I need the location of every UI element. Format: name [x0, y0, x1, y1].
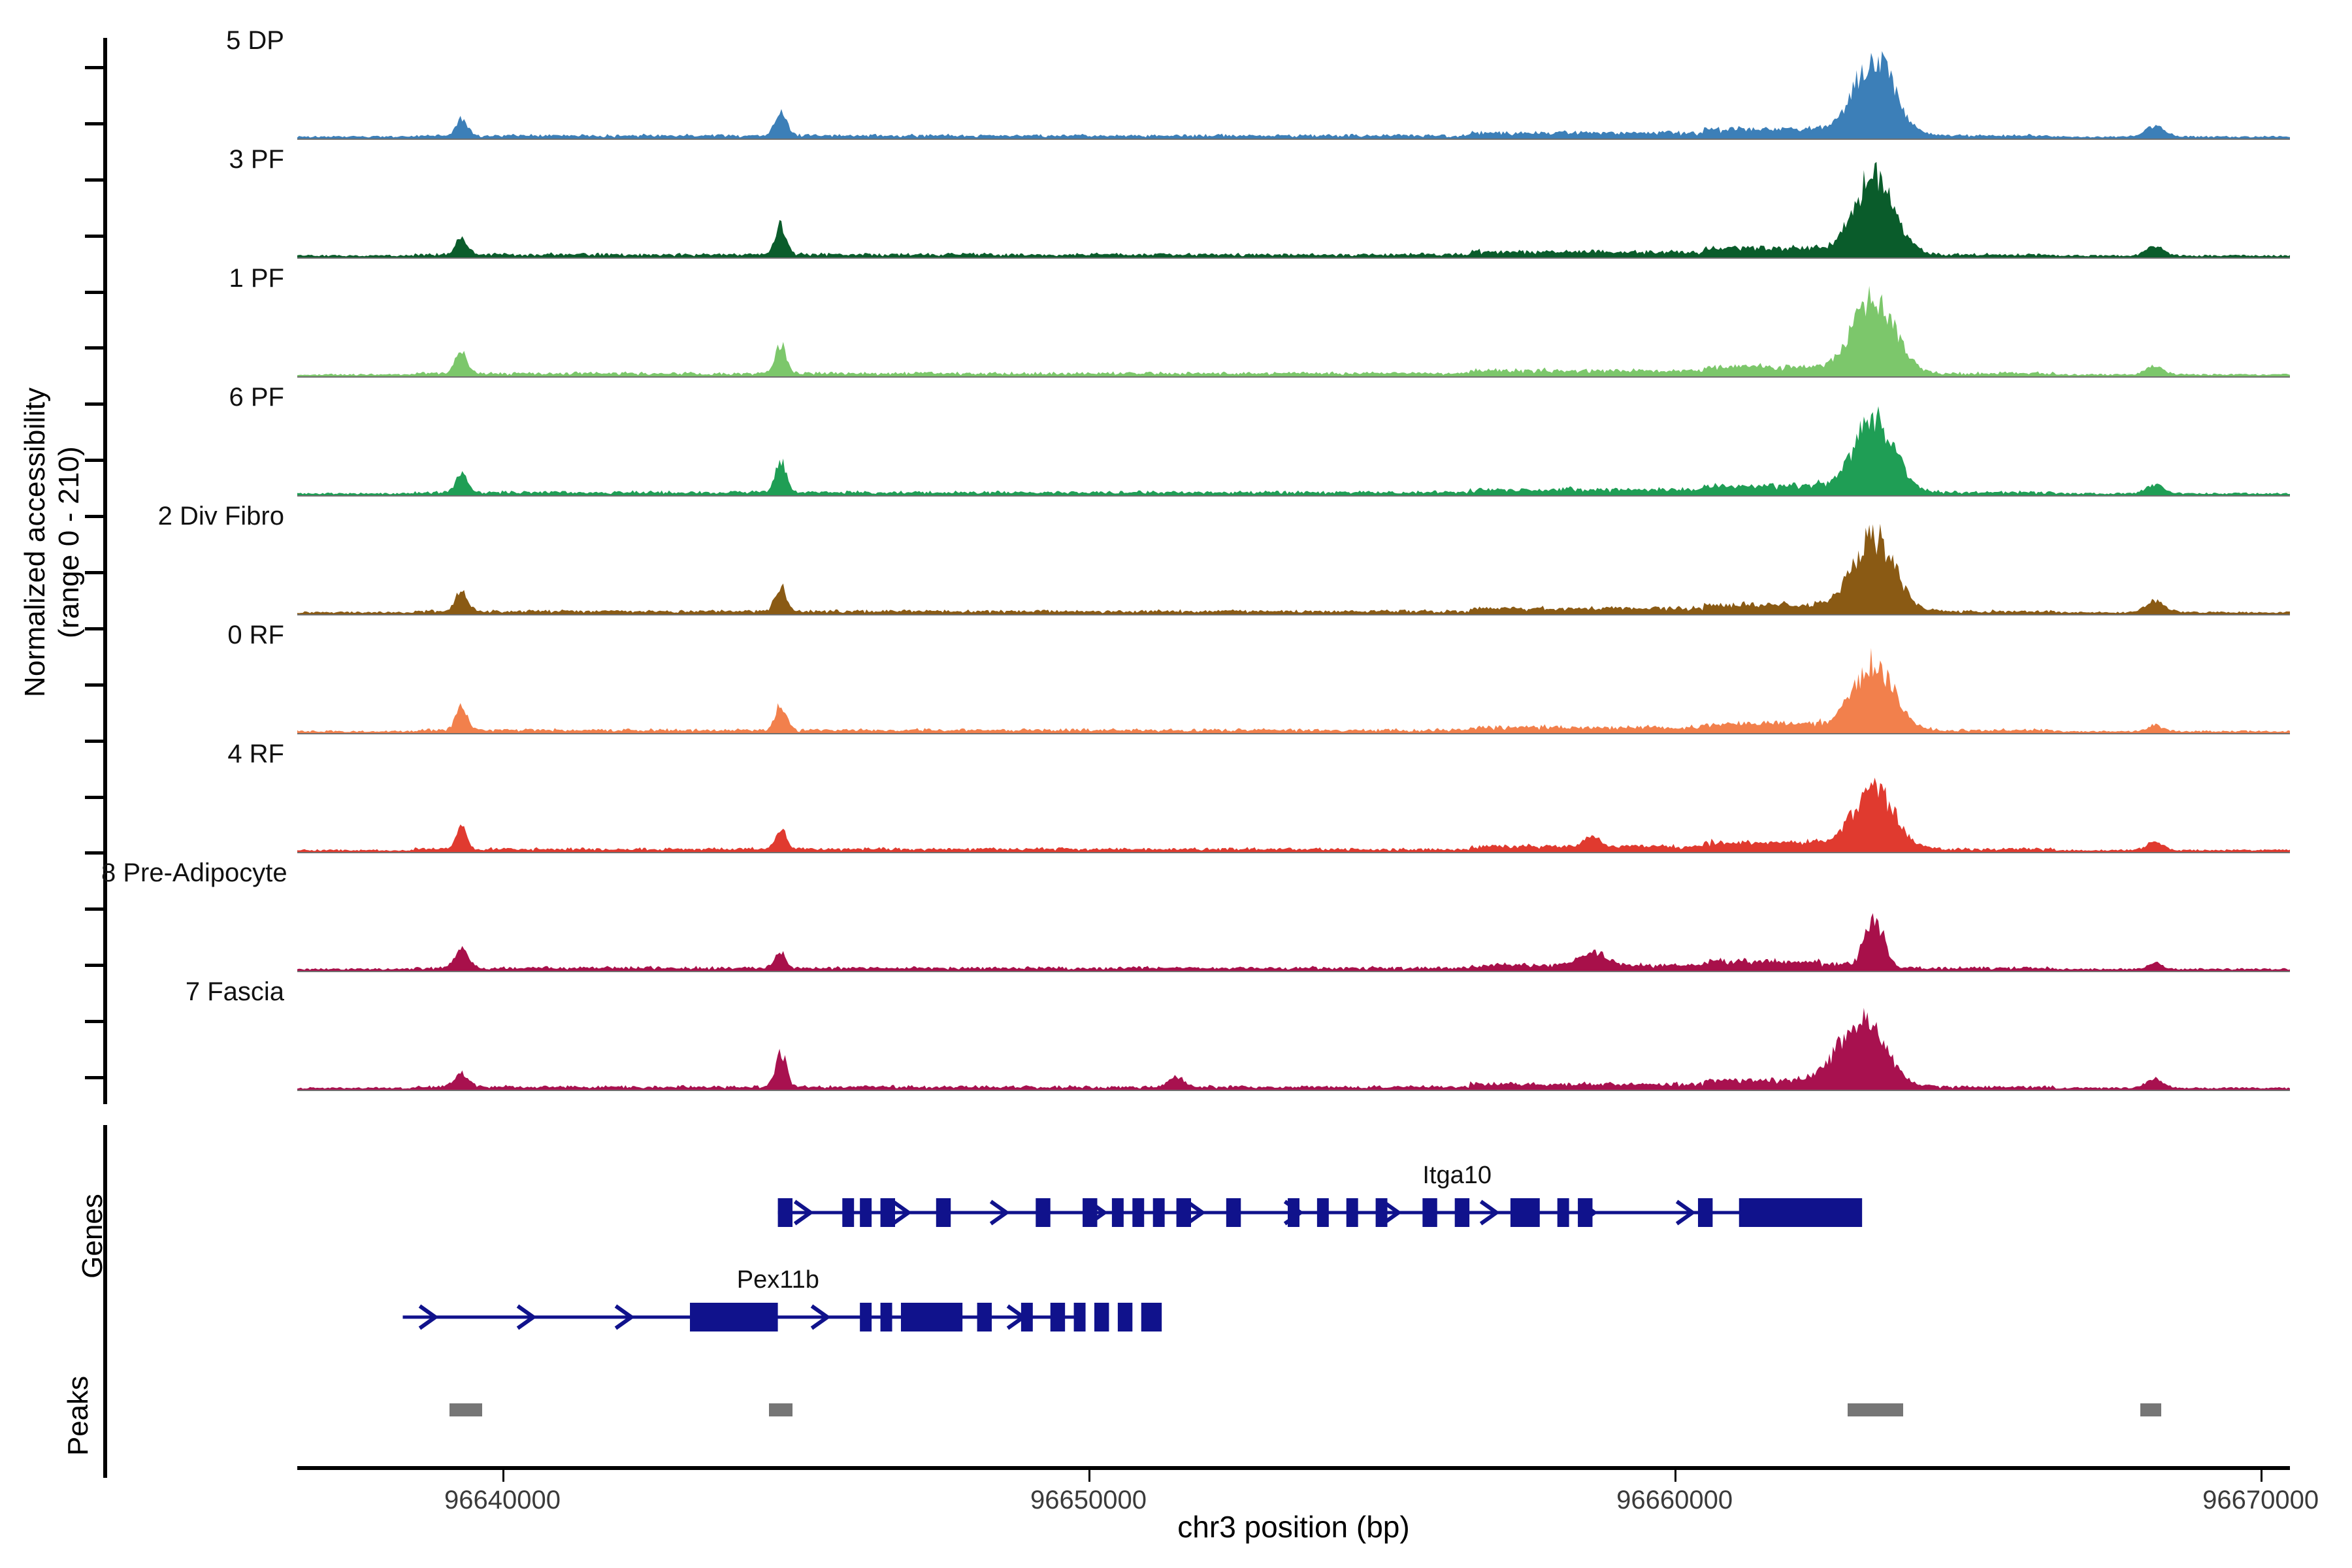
coverage-y-axis	[103, 38, 107, 1104]
track-baseline	[297, 614, 2290, 615]
x-axis-tick	[1674, 1470, 1676, 1482]
coverage-track: 5 DP	[297, 30, 2290, 140]
track-baseline	[297, 495, 2290, 497]
coverage-track: 6 PF	[297, 387, 2290, 497]
gene-exon-structure	[297, 1186, 2290, 1233]
y-axis-tick	[85, 235, 103, 238]
coverage-track: 4 RF	[297, 743, 2290, 853]
coverage-signal	[297, 635, 2290, 733]
y-axis-tick	[85, 291, 103, 294]
x-axis-tick	[1088, 1470, 1090, 1482]
peak-region[interactable]	[449, 1403, 482, 1416]
y-axis-tick	[85, 907, 103, 911]
track-baseline	[297, 139, 2290, 140]
coverage-track: 0 RF	[297, 625, 2290, 734]
gene-exon-structure	[297, 1291, 2290, 1338]
gene-name-label: Pex11b	[737, 1266, 819, 1294]
coverage-track: 2 Div Fibro	[297, 506, 2290, 615]
y-axis-tick	[85, 571, 103, 574]
track-label: 3 PF	[101, 145, 284, 174]
peak-region[interactable]	[1848, 1403, 1903, 1416]
gene-model[interactable]: Itga10	[297, 1164, 2290, 1236]
genome-browser-figure: Normalized accessibility (range 0 - 210)…	[0, 0, 2352, 1568]
coverage-signal	[297, 873, 2290, 971]
y-axis-tick	[85, 402, 103, 406]
y-axis-tick	[85, 346, 103, 350]
peak-region[interactable]	[2140, 1403, 2161, 1416]
gene-name-label: Itga10	[1422, 1162, 1492, 1190]
track-baseline	[297, 376, 2290, 378]
coverage-signal	[297, 278, 2290, 376]
y-axis-tick	[85, 459, 103, 462]
y-axis-title: Normalized accessibility (range 0 - 210)	[26, 7, 78, 1078]
coverage-signal	[297, 992, 2290, 1090]
track-label: 7 Fascia	[101, 977, 284, 1007]
y-axis-tick	[85, 796, 103, 799]
coverage-track: 8 Pre-Adipocyte	[297, 862, 2290, 972]
y-axis-tick	[85, 1076, 103, 1079]
track-baseline	[297, 257, 2290, 259]
x-axis-tick	[2261, 1470, 2262, 1482]
y-axis-tick	[85, 178, 103, 182]
y-axis-tick	[85, 683, 103, 687]
coverage-signal	[297, 41, 2290, 139]
track-baseline	[297, 1090, 2290, 1091]
peak-region[interactable]	[769, 1403, 792, 1416]
peaks-section-label: Peaks	[59, 1318, 98, 1514]
y-axis-tick	[85, 66, 103, 69]
track-label: 2 Div Fibro	[101, 502, 284, 531]
coverage-track: 3 PF	[297, 149, 2290, 259]
y-axis-tick	[85, 1020, 103, 1023]
track-label: 1 PF	[101, 264, 284, 293]
coverage-track: 7 Fascia	[297, 981, 2290, 1091]
track-baseline	[297, 733, 2290, 734]
y-axis-tick	[85, 964, 103, 967]
coverage-signal	[297, 397, 2290, 495]
coverage-signal	[297, 159, 2290, 257]
y-axis-title-line1: Normalized accessibility	[19, 387, 51, 697]
y-axis-tick	[85, 122, 103, 125]
y-axis-tick	[85, 515, 103, 518]
track-label: 8 Pre-Adipocyte	[101, 858, 284, 888]
genes-section-label: Genes	[73, 1138, 112, 1334]
coverage-signal	[297, 754, 2290, 852]
peaks-track-area	[297, 1354, 2290, 1478]
track-label: 4 RF	[101, 740, 284, 769]
y-axis-tick	[85, 627, 103, 630]
track-label: 0 RF	[101, 621, 284, 650]
x-axis-tick	[502, 1470, 504, 1482]
track-baseline	[297, 852, 2290, 853]
coverage-track: 1 PF	[297, 268, 2290, 378]
y-axis-tick	[85, 740, 103, 743]
coverage-signal	[297, 516, 2290, 614]
gene-model[interactable]: Pex11b	[297, 1269, 2290, 1341]
track-baseline	[297, 971, 2290, 972]
track-label: 6 PF	[101, 383, 284, 412]
peaks-axis	[103, 1354, 107, 1478]
y-axis-tick	[85, 851, 103, 855]
track-label: 5 DP	[101, 26, 284, 56]
y-axis-title-line2: (range 0 - 210)	[53, 446, 85, 638]
x-axis-title: chr3 position (bp)	[297, 1509, 2290, 1544]
